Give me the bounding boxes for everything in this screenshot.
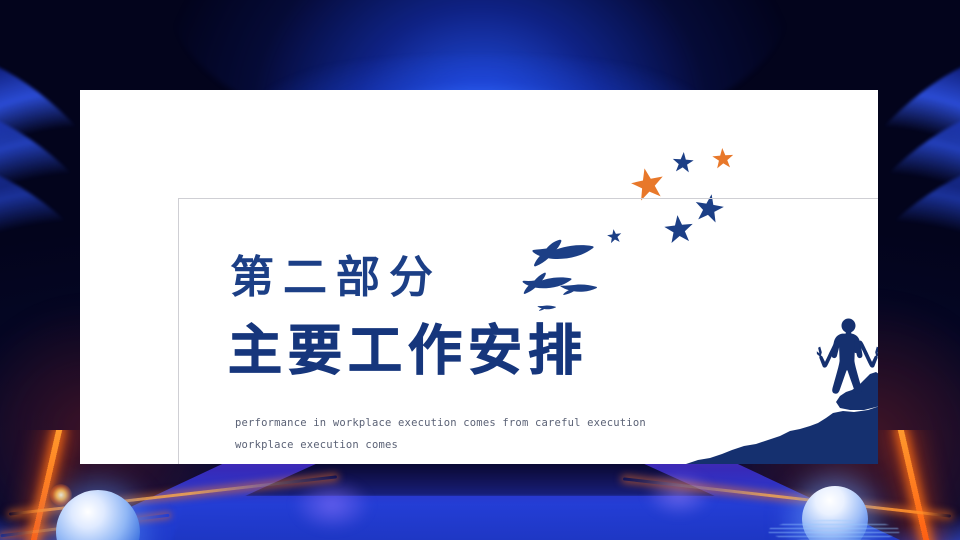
purple-glow-right <box>644 470 714 518</box>
subtitle-text: performance in workplace execution comes… <box>235 412 695 456</box>
purple-glow-left <box>292 478 372 532</box>
subtitle-line-1: performance in workplace execution comes… <box>235 412 695 434</box>
flying-birds-silhouette <box>490 228 620 320</box>
star-blue-top-icon <box>671 151 694 174</box>
star-blue-mid-lower-icon <box>663 214 696 247</box>
runway-edge-light-right <box>897 430 932 540</box>
water-ripple-reflection <box>768 520 900 540</box>
page-title-main: 主要工作安排 <box>228 324 588 378</box>
star-orange-large-icon <box>628 165 668 205</box>
subtitle-line-2: workplace execution comes <box>235 434 695 456</box>
star-blue-small-left-icon <box>606 228 623 245</box>
star-orange-top-right-icon <box>711 147 734 170</box>
page-title-section-label: 第二部分 <box>230 256 442 300</box>
person-arms-raised-silhouette <box>807 295 878 410</box>
star-blue-right-icon <box>692 192 727 227</box>
presentation-slide: 第二部分 主要工作安排 performance in workplace exe… <box>0 0 960 540</box>
content-card: 第二部分 主要工作安排 performance in workplace exe… <box>80 90 878 464</box>
